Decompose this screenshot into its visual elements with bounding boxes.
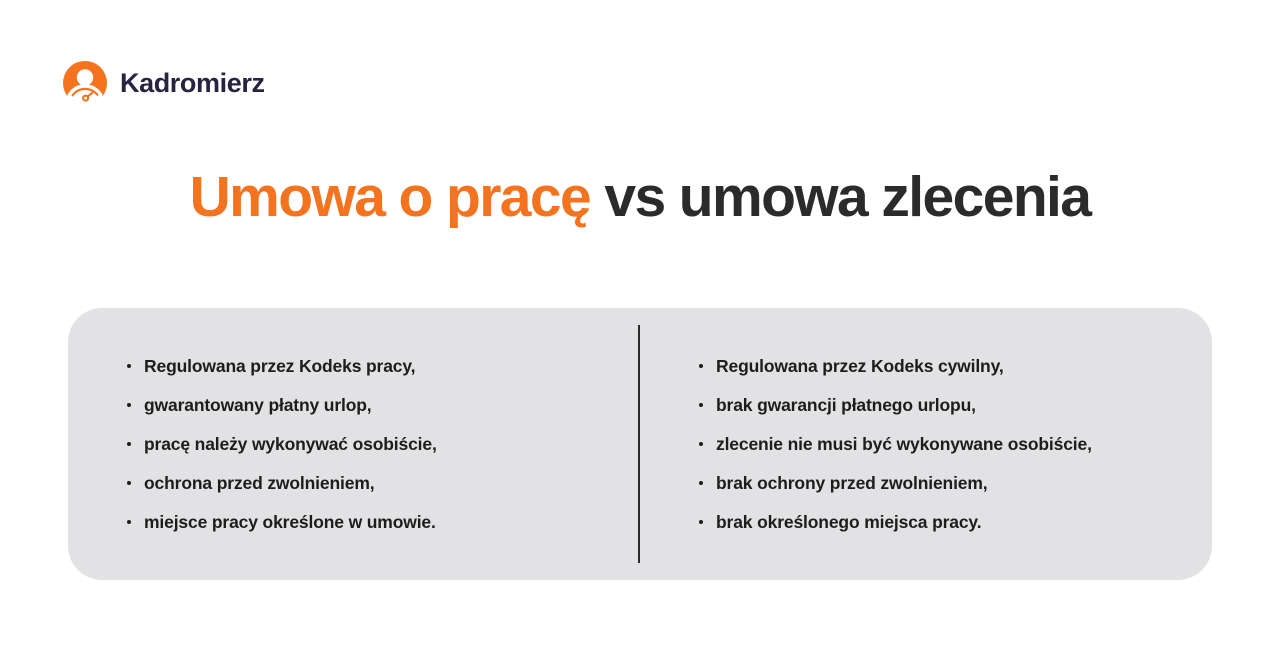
list-item-label: miejsce pracy określone w umowie.	[144, 512, 436, 532]
list-item-label: brak określonego miejsca pracy.	[716, 512, 981, 532]
bullet-dot-icon	[699, 364, 703, 368]
list-item-label: Regulowana przez Kodeks pracy,	[144, 356, 415, 376]
list-item: zlecenie nie musi być wykonywane osobiśc…	[699, 434, 1202, 454]
brand-name: Kadromierz	[120, 70, 265, 97]
page-title: Umowa o pracę vs umowa zlecenia	[0, 168, 1280, 228]
bullet-dot-icon	[699, 403, 703, 407]
bullet-dot-icon	[127, 403, 131, 407]
page-title-rest: vs umowa zlecenia	[590, 165, 1090, 229]
page-title-accent: Umowa o pracę	[190, 165, 591, 229]
list-item: Regulowana przez Kodeks cywilny,	[699, 356, 1202, 376]
bullet-dot-icon	[699, 520, 703, 524]
bullet-dot-icon	[127, 364, 131, 368]
list-item: miejsce pracy określone w umowie.	[127, 512, 628, 532]
bullet-dot-icon	[127, 520, 131, 524]
list-item: brak ochrony przed zwolnieniem,	[699, 473, 1202, 493]
column-divider	[638, 325, 640, 563]
list-item: ochrona przed zwolnieniem,	[127, 473, 628, 493]
list-item: Regulowana przez Kodeks pracy,	[127, 356, 628, 376]
list-item-label: zlecenie nie musi być wykonywane osobiśc…	[716, 434, 1092, 454]
right-bullet-list: Regulowana przez Kodeks cywilny, brak gw…	[699, 356, 1202, 533]
kadromierz-avatar-speedometer-icon	[62, 60, 108, 106]
list-item: pracę należy wykonywać osobiście,	[127, 434, 628, 454]
comparison-column-mandate-contract: Regulowana przez Kodeks cywilny, brak gw…	[638, 308, 1212, 580]
bullet-dot-icon	[127, 442, 131, 446]
list-item-label: ochrona przed zwolnieniem,	[144, 473, 374, 493]
bullet-dot-icon	[127, 481, 131, 485]
list-item: brak gwarancji płatnego urlopu,	[699, 395, 1202, 415]
bullet-dot-icon	[699, 442, 703, 446]
brand-logo[interactable]: Kadromierz	[62, 60, 265, 106]
bullet-dot-icon	[699, 481, 703, 485]
list-item: gwarantowany płatny urlop,	[127, 395, 628, 415]
list-item-label: Regulowana przez Kodeks cywilny,	[716, 356, 1004, 376]
list-item-label: gwarantowany płatny urlop,	[144, 395, 372, 415]
list-item-label: pracę należy wykonywać osobiście,	[144, 434, 437, 454]
comparison-column-employment-contract: Regulowana przez Kodeks pracy, gwarantow…	[68, 308, 638, 580]
comparison-panel: Regulowana przez Kodeks pracy, gwarantow…	[68, 308, 1212, 580]
left-bullet-list: Regulowana przez Kodeks pracy, gwarantow…	[127, 356, 628, 533]
list-item-label: brak ochrony przed zwolnieniem,	[716, 473, 988, 493]
list-item: brak określonego miejsca pracy.	[699, 512, 1202, 532]
list-item-label: brak gwarancji płatnego urlopu,	[716, 395, 976, 415]
